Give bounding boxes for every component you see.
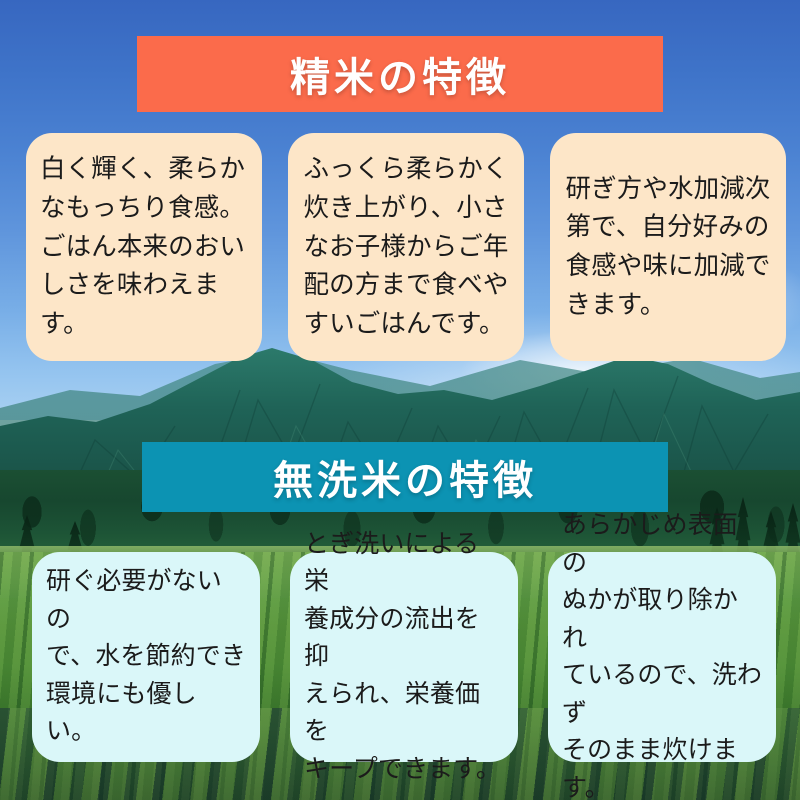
feature-card-musenmai-1: 研ぐ必要がないの で、水を節約でき 環境にも優しい。 bbox=[32, 552, 260, 762]
feature-card-text: あらかじめ表面の ぬかが取り除かれ ているので、洗わず そのまま炊けます。 bbox=[562, 507, 762, 800]
poster-root: 精米の特徴 白く輝く、柔らか なもっちり食感。 ごはん本来のおい しさを味わえま… bbox=[0, 0, 800, 800]
banner-musenmai: 無洗米の特徴 bbox=[142, 442, 668, 512]
feature-card-text: とぎ洗いによる栄 養成分の流出を抑 えられ、栄養価を キープできます。 bbox=[304, 526, 504, 789]
banner-seimai: 精米の特徴 bbox=[137, 36, 663, 112]
feature-card-musenmai-3: あらかじめ表面の ぬかが取り除かれ ているので、洗わず そのまま炊けます。 bbox=[548, 552, 776, 762]
feature-card-text: ふっくら柔らかく 炊き上がり、小さ なお子様からご年 配の方まで食べや すいごは… bbox=[303, 150, 508, 344]
feature-card-seimai-1: 白く輝く、柔らか なもっちり食感。 ごはん本来のおい しさを味わえます。 bbox=[26, 133, 262, 361]
feature-card-seimai-3: 研ぎ方や水加減次 第で、自分好みの 食感や味に加減で きます。 bbox=[550, 133, 786, 361]
feature-card-text: 白く輝く、柔らか なもっちり食感。 ごはん本来のおい しさを味わえます。 bbox=[40, 150, 248, 344]
feature-card-seimai-2: ふっくら柔らかく 炊き上がり、小さ なお子様からご年 配の方まで食べや すいごは… bbox=[288, 133, 524, 361]
banner-seimai-label: 精米の特徴 bbox=[290, 45, 510, 103]
banner-musenmai-label: 無洗米の特徴 bbox=[273, 448, 537, 506]
feature-card-text: 研ぐ必要がないの で、水を節約でき 環境にも優しい。 bbox=[46, 563, 246, 751]
feature-card-text: 研ぎ方や水加減次 第で、自分好みの 食感や味に加減で きます。 bbox=[565, 170, 770, 325]
feature-card-musenmai-2: とぎ洗いによる栄 養成分の流出を抑 えられ、栄養価を キープできます。 bbox=[290, 552, 518, 762]
